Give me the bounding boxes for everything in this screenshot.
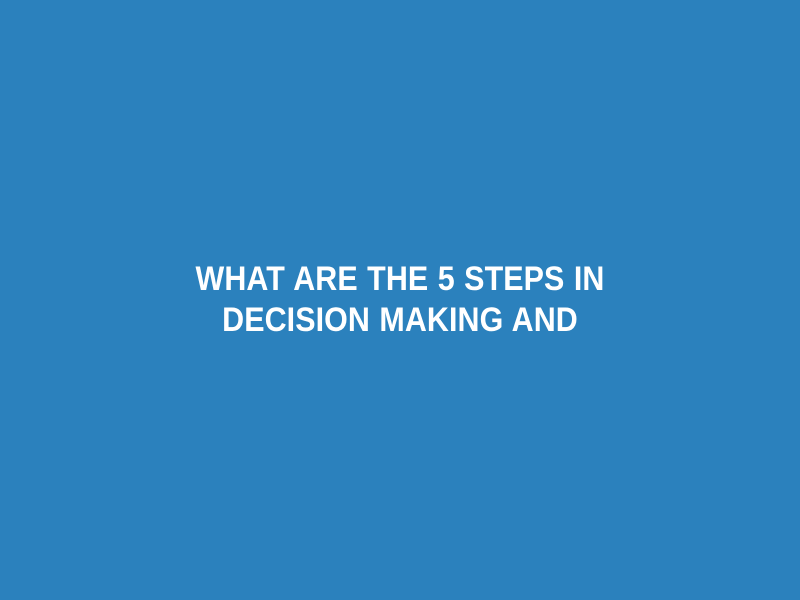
banner-title-block: What are the 5 steps in decision making …: [90, 259, 710, 341]
featured-image-banner: What are the 5 steps in decision making …: [0, 0, 800, 600]
banner-title: What are the 5 steps in decision making …: [123, 259, 678, 341]
